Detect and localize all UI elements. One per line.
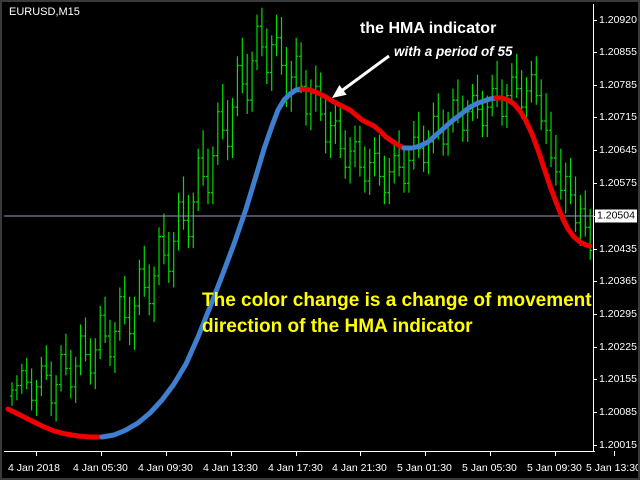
time-tick-mark — [36, 451, 37, 456]
price-tick-label: 1.20855 — [599, 46, 637, 58]
price-tick-mark — [593, 412, 597, 413]
time-scale[interactable]: 4 Jan 20184 Jan 05:304 Jan 09:304 Jan 13… — [4, 451, 595, 478]
price-tick-label: 1.20785 — [599, 79, 637, 91]
price-tick-label: 1.20015 — [599, 439, 637, 451]
price-scale[interactable]: 1.209201.208551.207851.207151.206451.205… — [593, 4, 638, 480]
time-tick-mark — [296, 451, 297, 456]
price-tick-mark — [593, 445, 597, 446]
price-tick-mark — [593, 52, 597, 53]
price-tick-mark — [593, 249, 597, 250]
time-tick-label: 4 Jan 17:30 — [268, 462, 323, 474]
time-tick-mark — [425, 451, 426, 456]
price-tick-mark — [593, 347, 597, 348]
price-tick-mark — [593, 150, 597, 151]
price-tick-mark — [593, 117, 597, 118]
price-tick-label: 1.20920 — [599, 14, 637, 26]
time-tick-mark — [231, 451, 232, 456]
time-tick-mark — [101, 451, 102, 456]
price-tick-mark — [593, 281, 597, 282]
time-tick-label: 4 Jan 2018 — [8, 462, 60, 474]
price-tick-label: 1.20435 — [599, 243, 637, 255]
time-tick-mark — [490, 451, 491, 456]
price-tick-mark — [593, 379, 597, 380]
price-tick-mark — [593, 85, 597, 86]
price-tick-mark — [593, 20, 597, 21]
time-tick-label: 4 Jan 21:30 — [332, 462, 387, 474]
time-tick-mark — [555, 451, 556, 456]
price-tick-label: 1.20155 — [599, 373, 637, 385]
price-tick-label: 1.20575 — [599, 177, 637, 189]
price-tick-label: 1.20645 — [599, 144, 637, 156]
price-tick-label: 1.20715 — [599, 111, 637, 123]
price-tick-label: 1.20365 — [599, 275, 637, 287]
time-tick-label: 4 Jan 05:30 — [73, 462, 128, 474]
price-tick-mark — [593, 183, 597, 184]
price-tick-label: 1.20225 — [599, 341, 637, 353]
annotation-hma-subtitle: with a period of 55 — [394, 44, 513, 59]
time-tick-label: 5 Jan 09:30 — [527, 462, 582, 474]
mt4-chart-window: EURUSD,M15 1.209201.208551.207851.207151… — [0, 0, 640, 480]
time-tick-mark — [166, 451, 167, 456]
time-axis-line — [4, 451, 595, 452]
time-tick-mark — [360, 451, 361, 456]
time-tick-label: 4 Jan 09:30 — [138, 462, 193, 474]
time-tick-label: 5 Jan 13:30 — [586, 462, 640, 474]
annotation-hma-title: the HMA indicator — [360, 20, 496, 38]
annotation-color-change-note: The color change is a change of movement… — [202, 288, 602, 340]
price-tick-label: 1.20085 — [599, 406, 637, 418]
current-price-label: 1.20504 — [595, 210, 637, 223]
time-tick-label: 5 Jan 01:30 — [397, 462, 452, 474]
symbol-timeframe-label: EURUSD,M15 — [9, 6, 80, 18]
ohlc-bars-group — [10, 8, 595, 422]
chart-plot-area[interactable] — [4, 4, 595, 453]
price-scale-separator — [593, 4, 594, 453]
time-tick-label: 5 Jan 05:30 — [462, 462, 517, 474]
price-tick-label: 1.20295 — [599, 308, 637, 320]
time-tick-mark — [614, 451, 615, 456]
time-tick-label: 4 Jan 13:30 — [203, 462, 258, 474]
chart-canvas — [4, 4, 595, 453]
